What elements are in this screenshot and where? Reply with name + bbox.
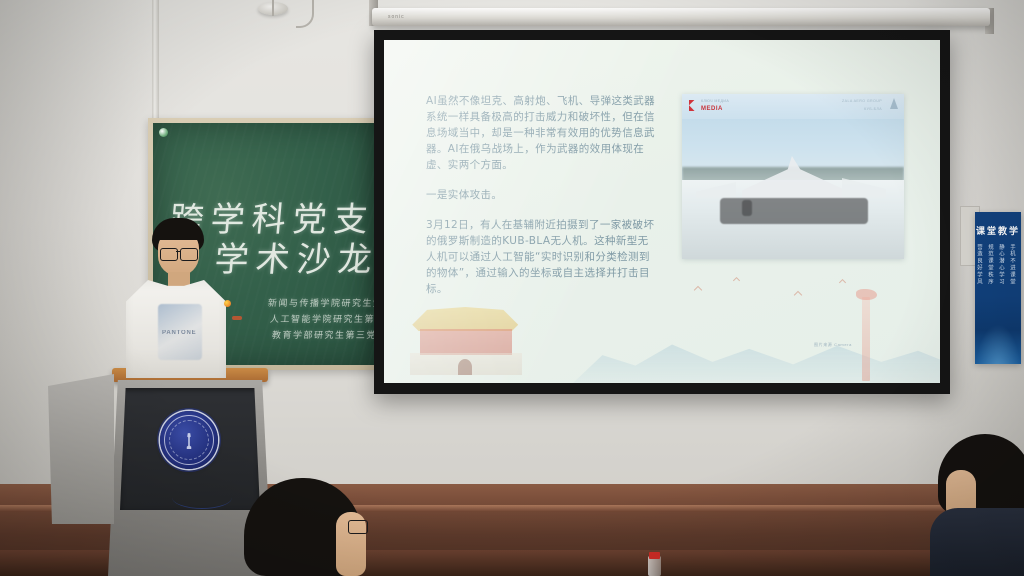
projector-screen-housing[interactable]: sonic xyxy=(372,8,990,26)
classroom-scene: 跨学科党支部 学术沙龙 新闻与传播学院研究生党支部 人工智能学院研究生第一党支部… xyxy=(0,0,1024,576)
poster-title: 课堂教学 xyxy=(975,224,1021,237)
presenter-glasses-bridge xyxy=(176,251,181,252)
board-magnet-icon xyxy=(159,128,168,137)
podium-side-shelf xyxy=(48,374,114,524)
water-bottle[interactable] xyxy=(648,556,661,576)
presenter-glasses-left xyxy=(160,248,178,261)
audience-member-right xyxy=(930,434,1024,576)
presenter-fringe xyxy=(154,224,202,240)
audience-member-left xyxy=(244,478,380,576)
projector-screen-surface[interactable]: AI虽然不像坦克、高射炮、飞机、导弹这类武器系统一样具备极高的打击威力和破坏性，… xyxy=(384,40,940,383)
housing-brand-label: sonic xyxy=(388,14,405,20)
bottle-cap[interactable] xyxy=(649,552,660,559)
tshirt-print-text: PANTONE xyxy=(162,330,196,336)
tshirt-shoulder-tag xyxy=(232,316,242,320)
podium-cable xyxy=(172,486,232,509)
poster-wave-graphic xyxy=(975,324,1021,364)
audience-right-shirt xyxy=(930,508,1024,576)
university-seal-emblem xyxy=(160,411,218,469)
presenter: PANTONE xyxy=(112,218,232,378)
slide-glare xyxy=(384,40,940,383)
chalkboard-headline-2: 学术沙龙 xyxy=(213,232,381,281)
tshirt-badge-icon xyxy=(224,300,231,307)
presenter-neck xyxy=(168,272,190,286)
presenter-glasses-right xyxy=(180,248,198,261)
detector-stem xyxy=(272,0,274,16)
classroom-rules-poster: 课堂教学 手机不进课堂 静心潜心学习 规范课堂秩序 营造良好学风 xyxy=(975,212,1021,364)
presentation-slide: AI虽然不像坦克、高射炮、飞机、导弹这类武器系统一样具备极高的打击威力和破坏性，… xyxy=(384,40,940,383)
audience-left-glasses xyxy=(348,520,368,534)
